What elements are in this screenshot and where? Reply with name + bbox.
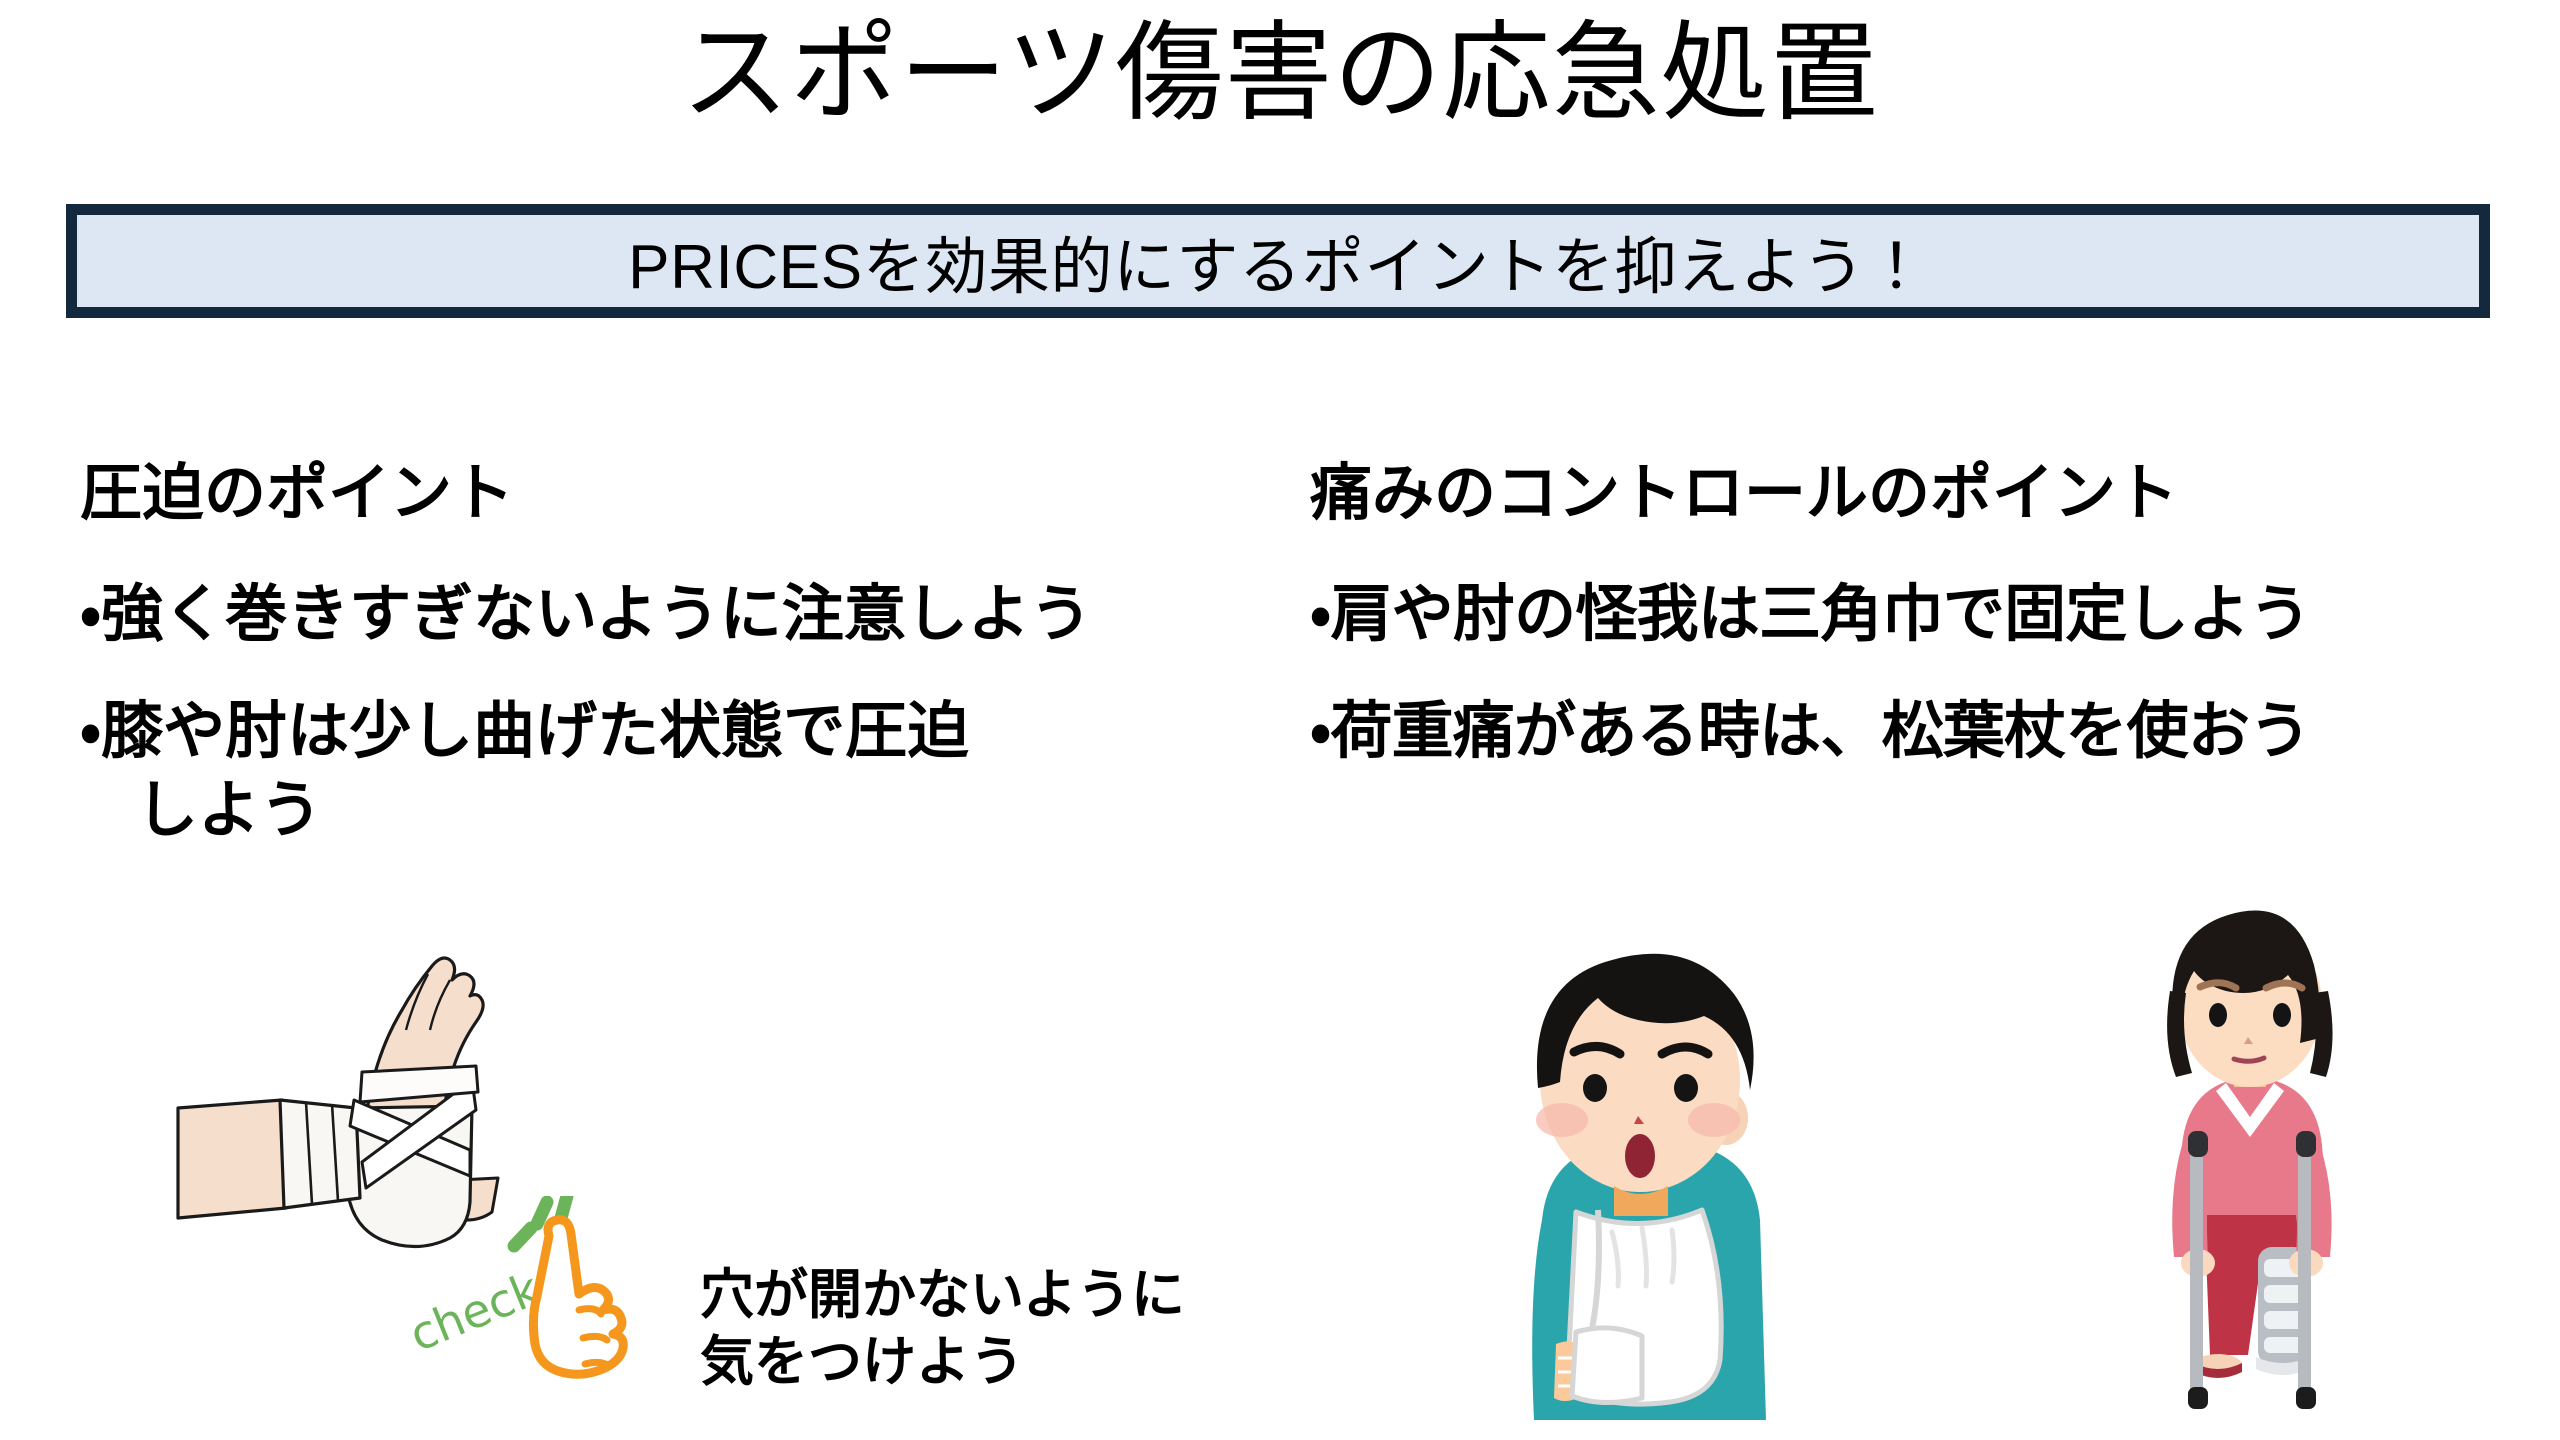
list-item: ・荷重痛がある時は、松葉杖を使おう (1310, 692, 2550, 771)
boy-with-arm-sling-illustration (1490, 920, 1820, 1420)
bullet-text: ・肩や肘の怪我は三角巾で固定しよう (1310, 580, 2310, 649)
pointing-hand-icon (505, 1196, 655, 1426)
subtitle-banner: PRICESを効果的にするポイントを抑えよう！ (66, 204, 2490, 318)
list-item: ・膝や肘は少し曲げた状態で圧迫 しよう (80, 692, 1260, 851)
foot-caption-line-1: 穴が開かないように (700, 1262, 1185, 1329)
column-heading-pain-control: 痛みのコントロールのポイント (1310, 455, 2550, 533)
check-annotation-group: check (400, 1190, 660, 1430)
list-item: ・強く巻きすぎないように注意しよう (80, 575, 1260, 654)
girl-with-crutches-illustration (2130, 895, 2370, 1420)
foot-caption-line-2: 気をつけよう (700, 1329, 1185, 1396)
column-compression: 圧迫のポイント ・強く巻きすぎないように注意しよう ・膝や肘は少し曲げた状態で圧… (80, 455, 1260, 889)
foot-caption: 穴が開かないように 気をつけよう (700, 1262, 1185, 1396)
bullet-text: ・荷重痛がある時は、松葉杖を使おう (1310, 697, 2310, 766)
bullet-text-continuation: しよう (80, 771, 1260, 850)
column-heading-compression: 圧迫のポイント (80, 455, 1260, 533)
column-pain-control: 痛みのコントロールのポイント ・肩や肘の怪我は三角巾で固定しよう ・荷重痛がある… (1310, 455, 2550, 809)
list-item: ・肩や肘の怪我は三角巾で固定しよう (1310, 575, 2550, 654)
page-title: スポーツ傷害の応急処置 (0, 14, 2560, 133)
bullet-text: ・膝や肘は少し曲げた状態で圧迫 (80, 697, 969, 766)
subtitle-banner-text: PRICESを効果的にするポイントを抑えよう！ (628, 216, 1928, 306)
bullet-text: ・強く巻きすぎないように注意しよう (80, 580, 1092, 649)
